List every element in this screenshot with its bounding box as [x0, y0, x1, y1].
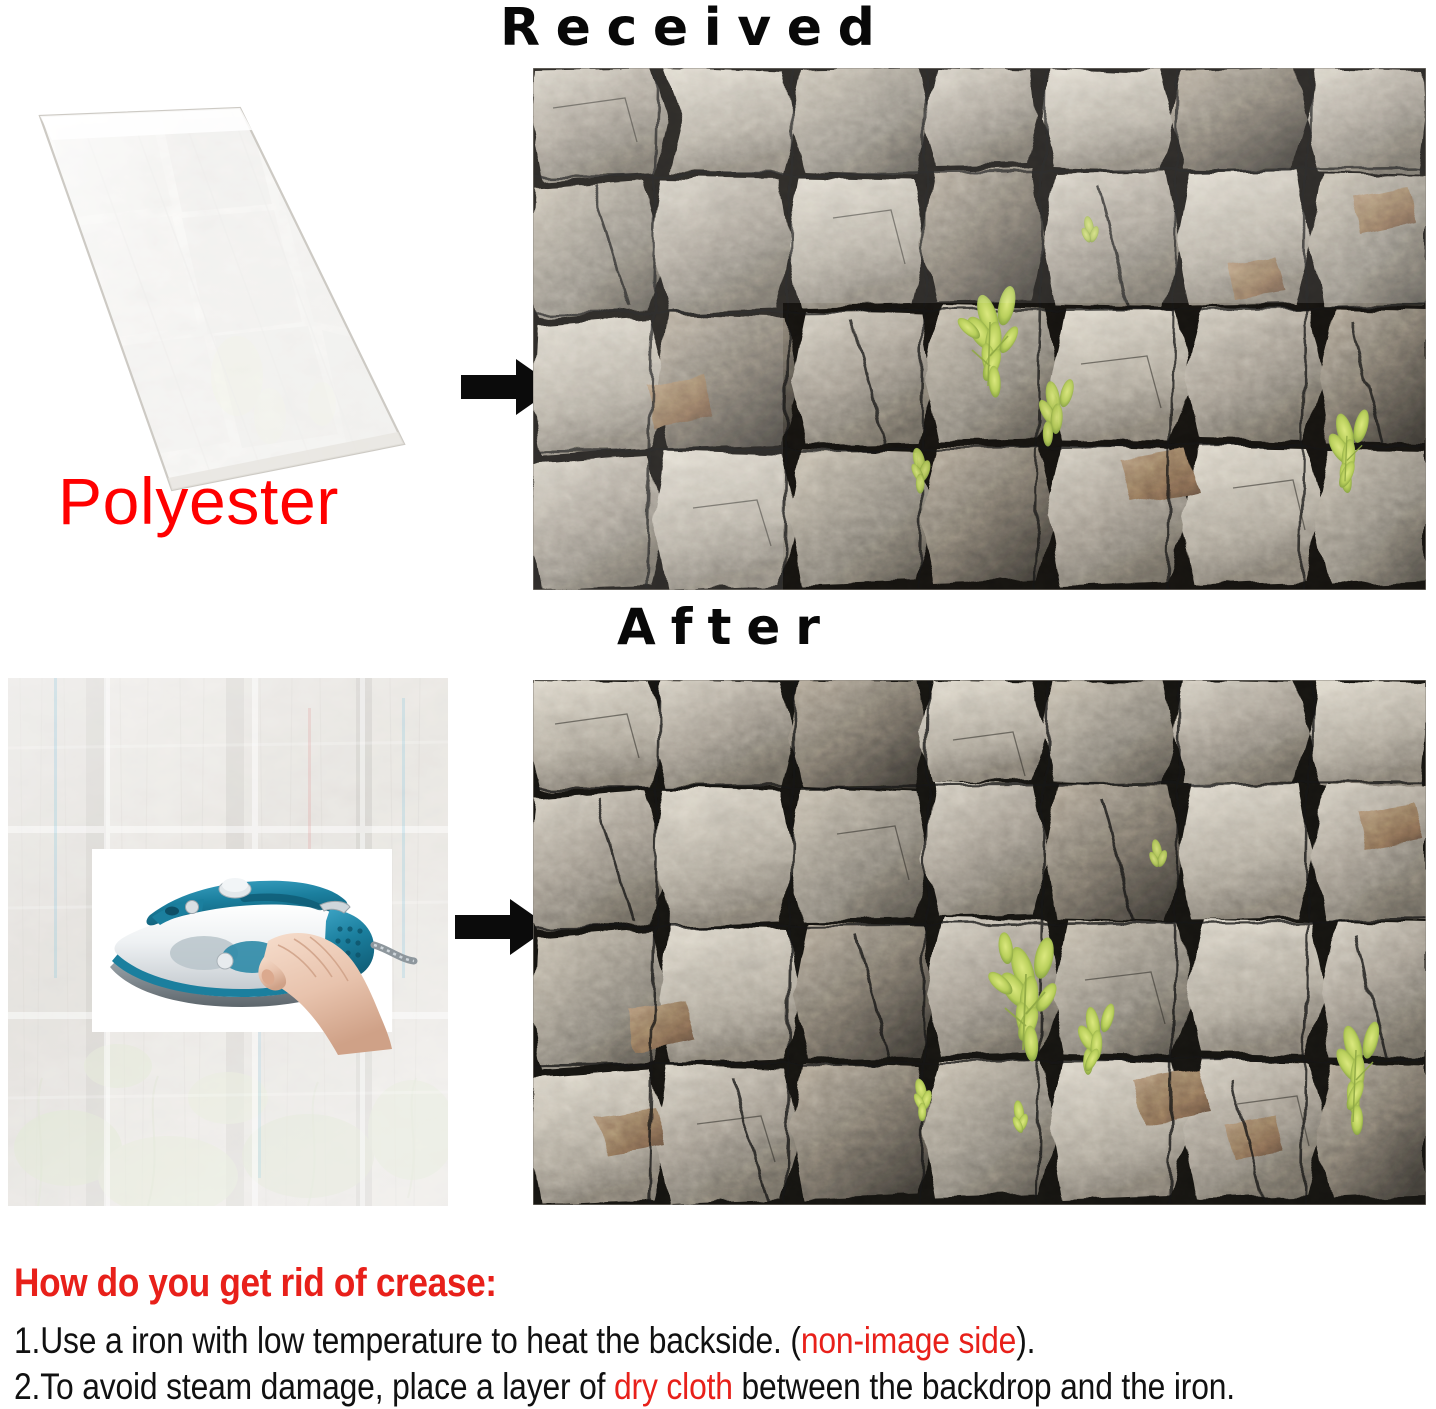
- folded-fabric-swatch: [22, 86, 417, 496]
- instruction-line-2: 2.To avoid steam damage, place a layer o…: [14, 1365, 1235, 1409]
- after-heading: After: [617, 602, 835, 652]
- instruction-line-1: 1.Use a iron with low temperature to hea…: [14, 1319, 1235, 1363]
- instructions-title: How do you get rid of crease:: [14, 1262, 1264, 1305]
- instruction-1-pre: 1.Use a iron with low temperature to hea…: [14, 1320, 801, 1361]
- infographic-canvas: Received: [0, 0, 1436, 1401]
- instruction-1-highlight: non-image side: [801, 1320, 1016, 1361]
- received-heading: Received: [500, 2, 890, 54]
- instruction-1-post: ).: [1016, 1320, 1035, 1361]
- polyester-label: Polyester: [58, 468, 339, 534]
- received-backdrop-photo: [533, 68, 1426, 590]
- after-backdrop-photo: [533, 680, 1426, 1205]
- steam-iron-illustration: [92, 849, 392, 1032]
- instructions-block: How do you get rid of crease: 1.Use a ir…: [14, 1262, 1434, 1409]
